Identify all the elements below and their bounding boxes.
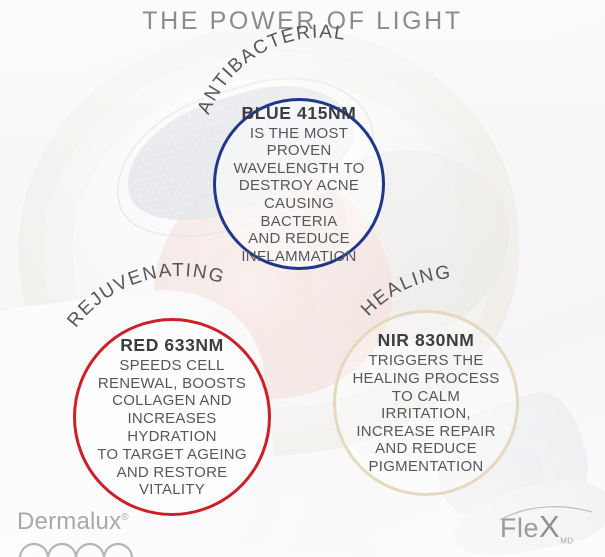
circle-nir-line-1: TRIGGERS THE	[368, 352, 483, 369]
circle-red-heading: RED 633NM	[86, 335, 258, 356]
flex-logo-swoosh-icon	[498, 506, 594, 522]
circle-nir-line-2: HEALING PROCESS	[352, 370, 499, 387]
circle-red-line-2: RENEWAL, BOOSTS	[98, 375, 246, 392]
circle-red-line-3: COLLAGEN AND	[112, 392, 232, 409]
dermalux-logo-text: Dermalux	[17, 508, 121, 535]
circle-nir-line-4: INCREASE REPAIR	[356, 423, 495, 440]
circle-blue-line-6: INFLAMMATION	[241, 248, 356, 265]
circle-blue-line-2: WAVELENGTH TO	[233, 160, 364, 177]
wavelength-circle-red[interactable]: RED 633NM SPEEDS CELL RENEWAL, BOOSTS CO…	[73, 318, 271, 516]
registered-trademark-icon: ®	[121, 512, 129, 523]
circle-nir-heading: NIR 830NM	[346, 330, 506, 351]
circle-red-line-5: TO TARGET AGEING	[97, 446, 247, 463]
circle-blue-line-4: CAUSING BACTERIA	[260, 195, 337, 230]
wavelength-circle-blue[interactable]: BLUE 415NM IS THE MOST PROVEN WAVELENGTH…	[213, 98, 385, 270]
dermalux-logo: Dermalux®	[17, 505, 167, 557]
circle-blue-heading: BLUE 415NM	[226, 103, 372, 124]
circle-red-line-6: AND RESTORE	[117, 464, 228, 481]
dermalux-arcs-icon	[17, 532, 167, 557]
circle-red-line-7: VITALITY	[139, 481, 205, 498]
flex-logo-md-suffix: MD	[560, 536, 573, 545]
circle-nir-body: TRIGGERS THE HEALING PROCESS TO CALM IRR…	[346, 352, 506, 475]
circle-blue-line-5: AND REDUCE	[248, 230, 350, 247]
dermalux-wordmark: Dermalux®	[17, 505, 167, 535]
circle-nir-line-3: TO CALM IRRITATION,	[381, 388, 471, 423]
circle-blue-line-1: IS THE MOST PROVEN	[250, 125, 348, 160]
infographic-canvas: THE POWER OF LIGHT ANTIBACTERIAL REJUVEN…	[0, 0, 605, 557]
flex-md-logo: FleXMD	[500, 512, 600, 554]
circle-red-body: SPEEDS CELL RENEWAL, BOOSTS COLLAGEN AND…	[86, 357, 258, 499]
circle-blue-body: IS THE MOST PROVEN WAVELENGTH TO DESTROY…	[226, 125, 372, 266]
circle-nir-line-6: PIGMENTATION	[369, 458, 484, 475]
circle-blue-line-3: DESTROY ACNE	[239, 177, 359, 194]
circle-red-line-1: SPEEDS CELL	[119, 357, 224, 374]
circle-nir-line-5: AND REDUCE	[375, 440, 477, 457]
circle-red-line-4: INCREASES HYDRATION	[127, 410, 216, 445]
wavelength-circle-nir[interactable]: NIR 830NM TRIGGERS THE HEALING PROCESS T…	[333, 310, 519, 496]
